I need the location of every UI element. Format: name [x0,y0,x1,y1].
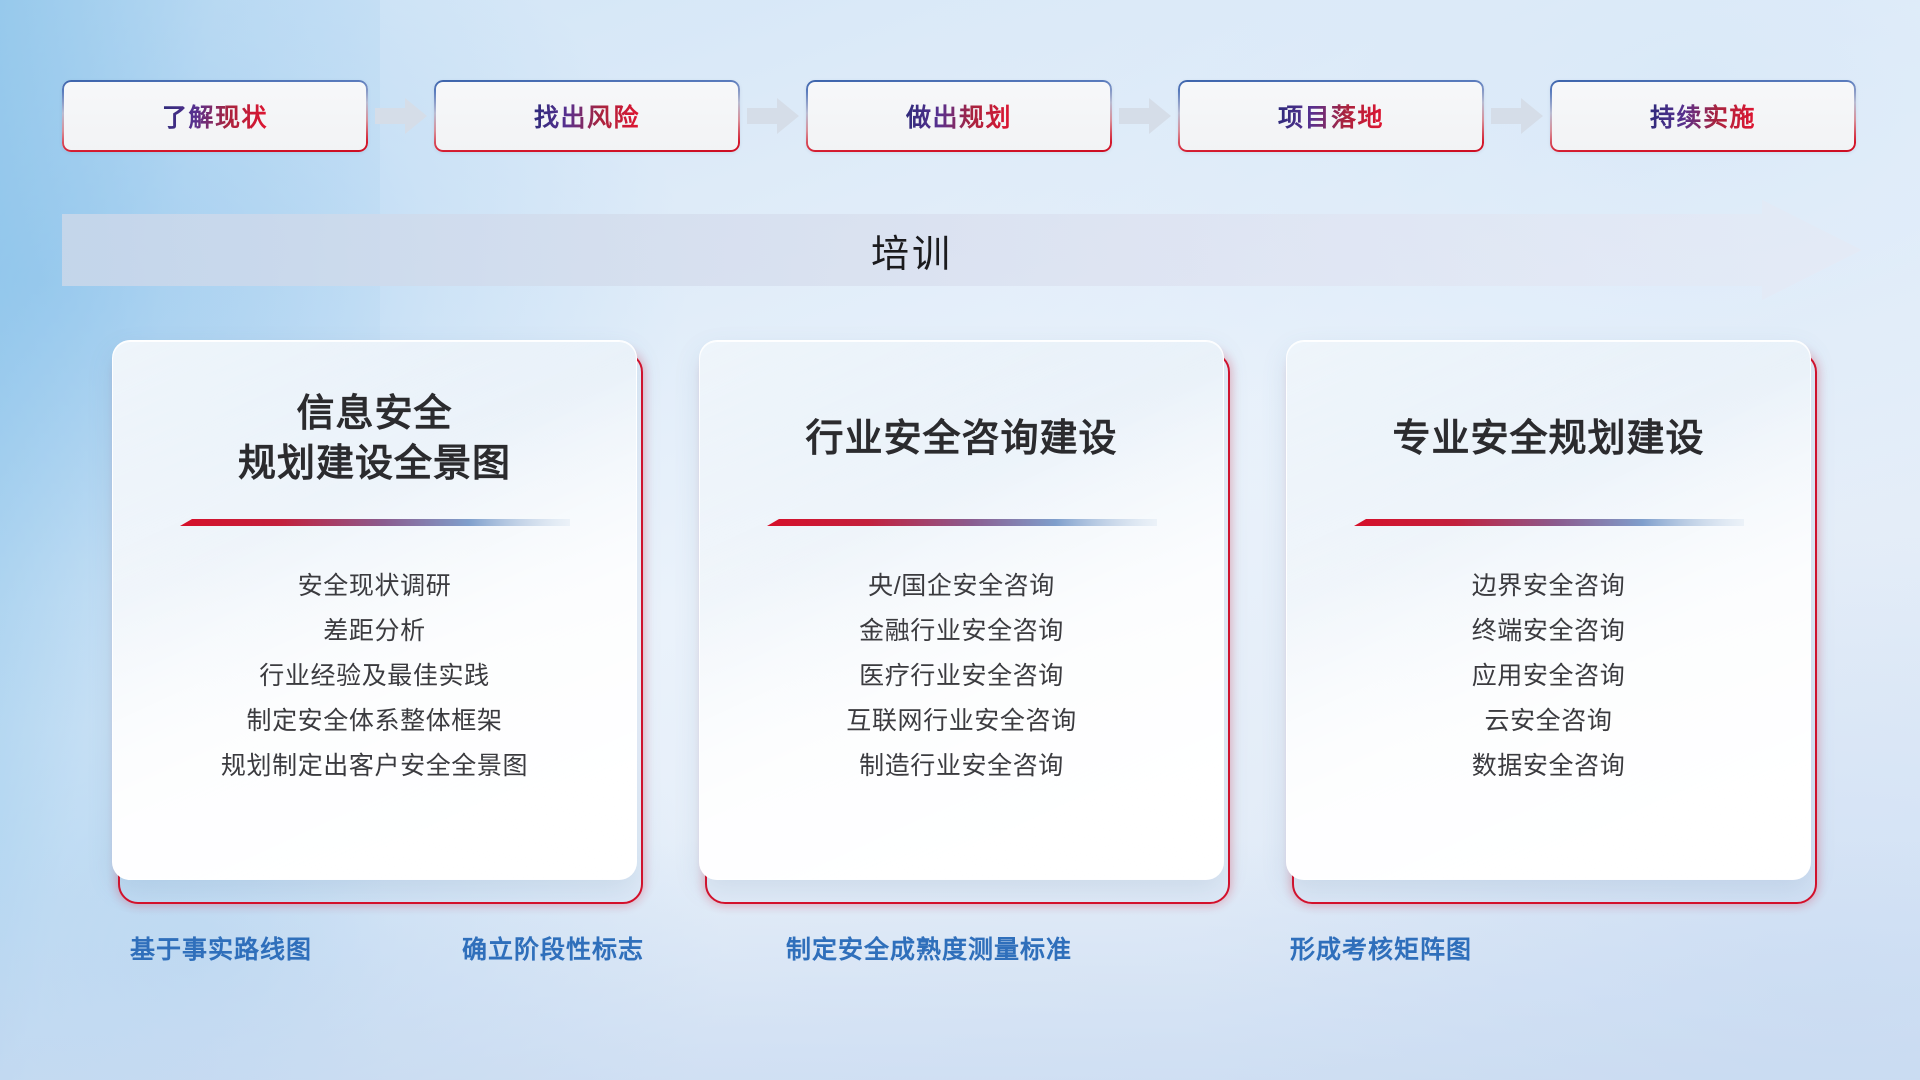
step-label: 持续实施 [1650,98,1756,134]
step-box-5[interactable]: 持续实施 [1550,80,1856,152]
step-box-4[interactable]: 项目落地 [1178,80,1484,152]
card-1[interactable]: 信息安全 规划建设全景图 [112,340,637,880]
step-label: 项目落地 [1278,98,1384,134]
list-item: 互联网行业安全咨询 [730,699,1193,744]
caption-4: 形成考核矩阵图 [1290,930,1472,966]
training-banner: 培训 [62,200,1862,300]
chevron-right-arrow-icon [740,80,806,152]
list-item: 制造行业安全咨询 [730,744,1193,789]
card-wrapper-3: 专业安全规划建设 [1286,340,1811,880]
list-item: 医疗行业安全咨询 [730,654,1193,699]
list-item: 数据安全咨询 [1317,744,1780,789]
list-item: 规划制定出客户安全全景图 [143,744,606,789]
card-title: 信息安全 规划建设全景图 [238,387,511,491]
step-box-1[interactable]: 了解现状 [62,80,368,152]
step-label: 做出规划 [906,98,1012,134]
list-item: 制定安全体系整体框架 [143,699,606,744]
list-item: 应用安全咨询 [1317,654,1780,699]
card-item-list: 安全现状调研 差距分析 行业经验及最佳实践 制定安全体系整体框架 规划制定出客户… [143,564,606,789]
list-item: 云安全咨询 [1317,699,1780,744]
list-item: 央/国企安全咨询 [730,564,1193,609]
chevron-right-arrow-icon [368,80,434,152]
card-2[interactable]: 行业安全咨询建设 [699,340,1224,880]
list-item: 边界安全咨询 [1317,564,1780,609]
list-item: 行业经验及最佳实践 [143,654,606,699]
list-item: 安全现状调研 [143,564,606,609]
list-item: 终端安全咨询 [1317,609,1780,654]
caption-1: 基于事实路线图 [130,930,312,966]
card-item-list: 央/国企安全咨询 金融行业安全咨询 医疗行业安全咨询 互联网行业安全咨询 制造行… [730,564,1193,789]
step-label: 找出风险 [534,98,640,134]
process-step-row: 了解现状 找出风险 做出规划 项目落地 [62,80,1862,152]
card-title: 行业安全咨询建设 [805,387,1117,491]
card-wrapper-2: 行业安全咨询建设 [699,340,1224,880]
card-divider [1354,519,1744,528]
card-item-list: 边界安全咨询 终端安全咨询 应用安全咨询 云安全咨询 数据安全咨询 [1317,564,1780,789]
card-3[interactable]: 专业安全规划建设 [1286,340,1811,880]
chevron-right-arrow-icon [1112,80,1178,152]
caption-3: 制定安全成熟度测量标准 [786,930,1072,966]
list-item: 差距分析 [143,609,606,654]
step-box-3[interactable]: 做出规划 [806,80,1112,152]
caption-row: 基于事实路线图 确立阶段性标志 制定安全成熟度测量标准 形成考核矩阵图 [0,930,1920,978]
card-row: 信息安全 规划建设全景图 [112,340,1812,880]
banner-label: 培训 [62,200,1762,300]
slide-canvas: 了解现状 找出风险 做出规划 项目落地 [0,0,1920,1080]
card-wrapper-1: 信息安全 规划建设全景图 [112,340,637,880]
card-title: 专业安全规划建设 [1392,387,1704,491]
card-divider [180,519,570,528]
step-label: 了解现状 [162,98,268,134]
card-divider [767,519,1157,528]
caption-2: 确立阶段性标志 [462,930,644,966]
step-box-2[interactable]: 找出风险 [434,80,740,152]
chevron-right-arrow-icon [1484,80,1550,152]
list-item: 金融行业安全咨询 [730,609,1193,654]
